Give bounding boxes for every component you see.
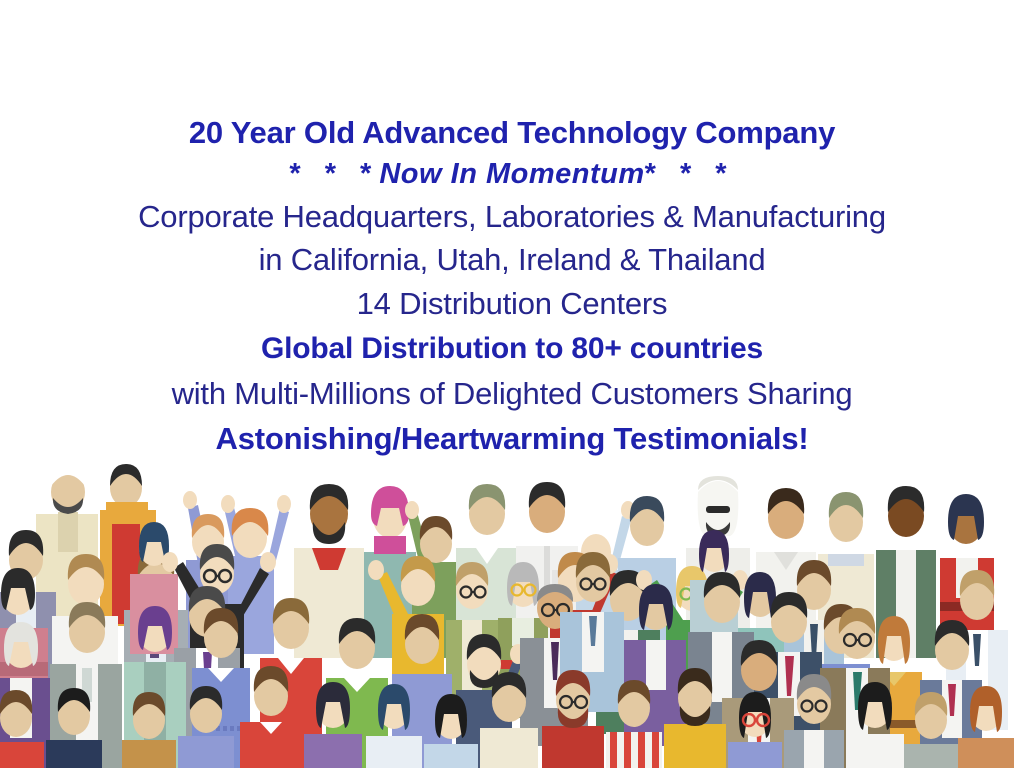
stars-right: * * * — [645, 158, 735, 190]
headline-block: 20 Year Old Advanced Technology Company … — [0, 112, 1024, 461]
stars-left: * * * — [289, 158, 379, 190]
headline-line-company: 20 Year Old Advanced Technology Company — [0, 112, 1024, 153]
crowd-illustration-svg — [0, 452, 1024, 768]
headline-line-momentum: * * *Now In Momentum* * * — [0, 153, 1024, 195]
headline-line-facilities: Corporate Headquarters, Laboratories & M… — [0, 195, 1024, 238]
headline-line-testimonials: Astonishing/Heartwarming Testimonials! — [0, 416, 1024, 461]
headline-line-locations: in California, Utah, Ireland & Thailand — [0, 238, 1024, 282]
headline-line-customers: with Multi-Millions of Delighted Custome… — [0, 371, 1024, 416]
momentum-emphasis: Now In Momentum — [379, 158, 644, 190]
crowd-illustration — [0, 452, 1024, 768]
slide-canvas: 20 Year Old Advanced Technology Company … — [0, 0, 1024, 768]
headline-line-distribution-centers: 14 Distribution Centers — [0, 282, 1024, 326]
headline-line-global-distribution: Global Distribution to 80+ countries — [0, 326, 1024, 371]
